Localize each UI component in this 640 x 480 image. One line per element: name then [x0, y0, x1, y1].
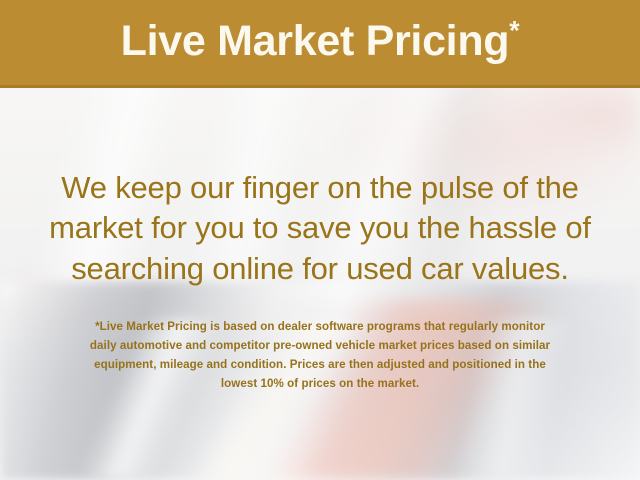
headline-line: market for you to save you the hassle of: [18, 208, 622, 248]
header-band: Live Market Pricing*: [0, 0, 640, 88]
disclaimer-line: equipment, mileage and condition. Prices…: [18, 356, 622, 375]
disclaimer-line: daily automotive and competitor pre-owne…: [18, 337, 622, 356]
live-market-pricing-promo-card: Live Market Pricing* We keep our finger …: [0, 0, 640, 480]
disclaimer-text: *Live Market Pricing is based on dealer …: [18, 289, 622, 394]
headline: We keep our finger on the pulse of the m…: [18, 88, 622, 289]
page-title: Live Market Pricing*: [121, 20, 520, 66]
disclaimer-line: *Live Market Pricing is based on dealer …: [18, 318, 622, 337]
content-area: We keep our finger on the pulse of the m…: [0, 88, 640, 393]
headline-line: We keep our finger on the pulse of the: [18, 168, 622, 208]
headline-line: searching online for used car values.: [18, 249, 622, 289]
disclaimer-line: lowest 10% of prices on the market.: [18, 375, 622, 394]
page-title-text: Live Market Pricing: [121, 17, 510, 65]
page-title-asterisk: *: [509, 15, 519, 45]
